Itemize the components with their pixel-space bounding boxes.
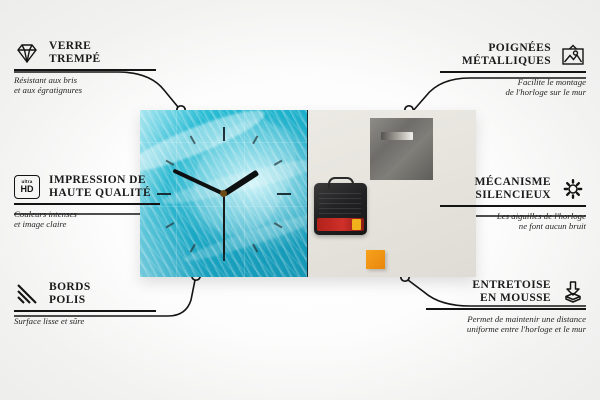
callout-title-line2: POLIS xyxy=(49,294,91,307)
callout-title-line1: POIGNÉES xyxy=(462,42,551,55)
callout-poignees-metalliques: POIGNÉES MÉTALLIQUES Facilite le montage… xyxy=(440,42,586,98)
clock-panel xyxy=(140,110,311,277)
callout-rule xyxy=(440,71,586,73)
callout-sub-line2: de l'horloge sur le mur xyxy=(440,87,586,98)
foam-spacer-arrow-icon xyxy=(560,280,586,304)
callout-mecanisme-silencieux: MÉCANISME SILENCIEUX Les aiguilles de l'… xyxy=(440,176,586,232)
hanger-slot xyxy=(381,132,413,140)
callout-sub-line2: et image claire xyxy=(14,219,160,230)
clock-mechanism xyxy=(314,183,367,235)
mechanism-label xyxy=(319,190,361,214)
callout-sub-line2: et aux égratignures xyxy=(14,85,156,96)
callout-title-line1: BORDS xyxy=(49,281,91,294)
callout-verre-trempe: VERRE TREMPÉ Résistant aux bris et aux é… xyxy=(14,40,156,96)
clock-face xyxy=(140,110,307,277)
gear-icon xyxy=(560,177,586,201)
callout-sub-line1: Couleurs intenses xyxy=(14,209,160,220)
callout-sub-line1: Résistant aux bris xyxy=(14,75,156,86)
callout-sub-line1: Surface lisse et sûre xyxy=(14,316,156,327)
callout-impression-haute-qualite: ultra HD IMPRESSION DE HAUTE QUALITÉ Cou… xyxy=(14,174,160,230)
callout-title-line2: HAUTE QUALITÉ xyxy=(49,187,151,200)
callout-title-line1: MÉCANISME xyxy=(475,176,551,189)
callout-rule xyxy=(426,308,586,310)
callout-rule xyxy=(14,69,156,71)
clock-hour-hand xyxy=(222,169,259,196)
callout-title-line1: ENTRETOISE xyxy=(472,279,551,292)
infographic-canvas: VERRE TREMPÉ Résistant aux bris et aux é… xyxy=(0,0,600,400)
callout-entretoise-en-mousse: ENTRETOISE EN MOUSSE Permet de maintenir… xyxy=(426,279,586,335)
callout-rule xyxy=(14,203,160,205)
callout-sub-line1: Permet de maintenir une distance xyxy=(426,314,586,325)
callout-sub-line1: Les aiguilles de l'horloge xyxy=(440,211,586,222)
polished-edge-icon xyxy=(14,282,40,306)
callout-rule xyxy=(440,205,586,207)
callout-title-line1: VERRE xyxy=(49,40,101,53)
callout-title-line2: MÉTALLIQUES xyxy=(462,55,551,68)
callout-sub-line2: uniforme entre l'horloge et le mur xyxy=(426,324,586,335)
callout-sub-line1: Facilite le montage xyxy=(440,77,586,88)
ultra-hd-badge-icon: ultra HD xyxy=(14,175,40,199)
metal-hanger-plate xyxy=(370,118,433,180)
callout-rule xyxy=(14,310,156,312)
callout-title-line1: IMPRESSION DE xyxy=(49,174,151,187)
callout-sub-line2: ne font aucun bruit xyxy=(440,221,586,232)
diamond-icon xyxy=(14,41,40,65)
callout-title-line2: TREMPÉ xyxy=(49,53,101,66)
clock-second-hand xyxy=(223,194,225,254)
callout-title-line2: EN MOUSSE xyxy=(472,292,551,305)
callout-bords-polis: BORDS POLIS Surface lisse et sûre xyxy=(14,281,156,326)
battery xyxy=(317,218,364,231)
mechanism-hook xyxy=(328,177,354,189)
picture-frame-hanger-icon xyxy=(560,43,586,67)
callout-title-line2: SILENCIEUX xyxy=(475,189,551,202)
clock-pivot xyxy=(220,190,227,197)
foam-spacer xyxy=(366,250,385,269)
badge-hd-label: HD xyxy=(21,185,34,194)
product-wall-clock xyxy=(140,110,476,277)
